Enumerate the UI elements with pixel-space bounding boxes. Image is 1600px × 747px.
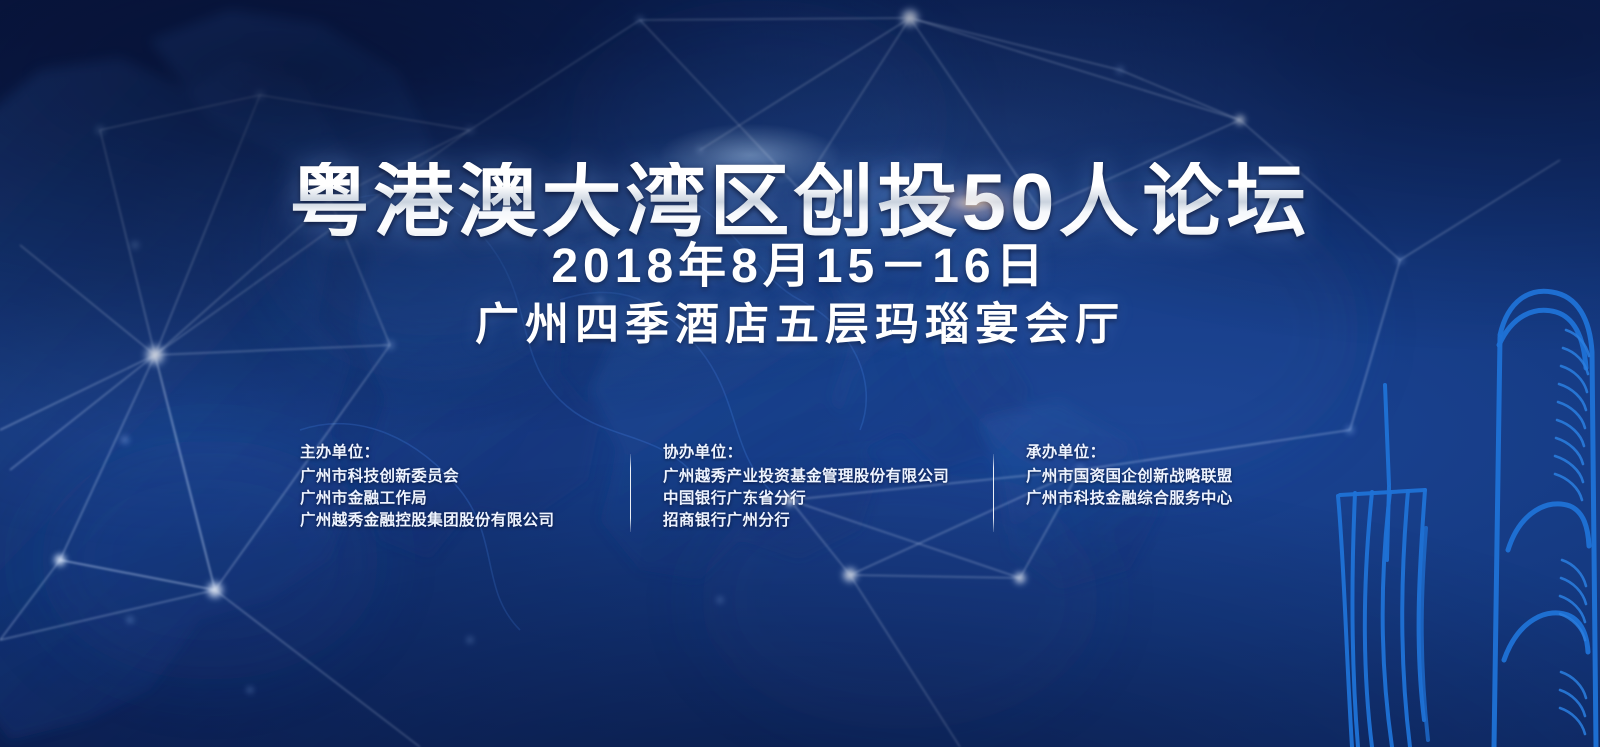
organizer-entry: 广州市科技金融综合服务中心 xyxy=(1026,488,1356,510)
organizer-heading: 主办单位： xyxy=(300,442,630,464)
organizer-entry: 广州市科技创新委员会 xyxy=(300,466,630,488)
organizer-entry: 广州市金融工作局 xyxy=(300,488,630,510)
organizer-credits: 主办单位： 广州市科技创新委员会 广州市金融工作局 广州越秀金融控股集团股份有限… xyxy=(300,442,1356,532)
organizer-entry: 广州市国资国企创新战略联盟 xyxy=(1026,466,1356,488)
organizer-entry: 招商银行广州分行 xyxy=(663,510,993,532)
event-venue: 广州四季酒店五层玛瑙宴会厅 xyxy=(0,303,1600,347)
organizer-column-coorganizer: 协办单位： 广州越秀产业投资基金管理股份有限公司 中国银行广东省分行 招商银行广… xyxy=(631,442,993,532)
organizer-column-host: 主办单位： 广州市科技创新委员会 广州市金融工作局 广州越秀金融控股集团股份有限… xyxy=(300,442,630,532)
organizer-entry: 广州越秀金融控股集团股份有限公司 xyxy=(300,510,630,532)
organizer-heading: 承办单位： xyxy=(1026,442,1356,464)
event-date: 2018年8月15－16日 xyxy=(0,243,1600,291)
organizer-column-undertaker: 承办单位： 广州市国资国企创新战略联盟 广州市科技金融综合服务中心 xyxy=(994,442,1356,510)
organizer-entry: 广州越秀产业投资基金管理股份有限公司 xyxy=(663,466,993,488)
page-title: 粤港澳大湾区创投50人论坛 xyxy=(0,162,1600,242)
poster-canvas: 粤港澳大湾区创投50人论坛 2018年8月15－16日 广州四季酒店五层玛瑙宴会… xyxy=(0,0,1600,747)
organizer-entry: 中国银行广东省分行 xyxy=(663,488,993,510)
organizer-heading: 协办单位： xyxy=(663,442,993,464)
poster-content: 粤港澳大湾区创投50人论坛 2018年8月15－16日 广州四季酒店五层玛瑙宴会… xyxy=(0,0,1600,747)
